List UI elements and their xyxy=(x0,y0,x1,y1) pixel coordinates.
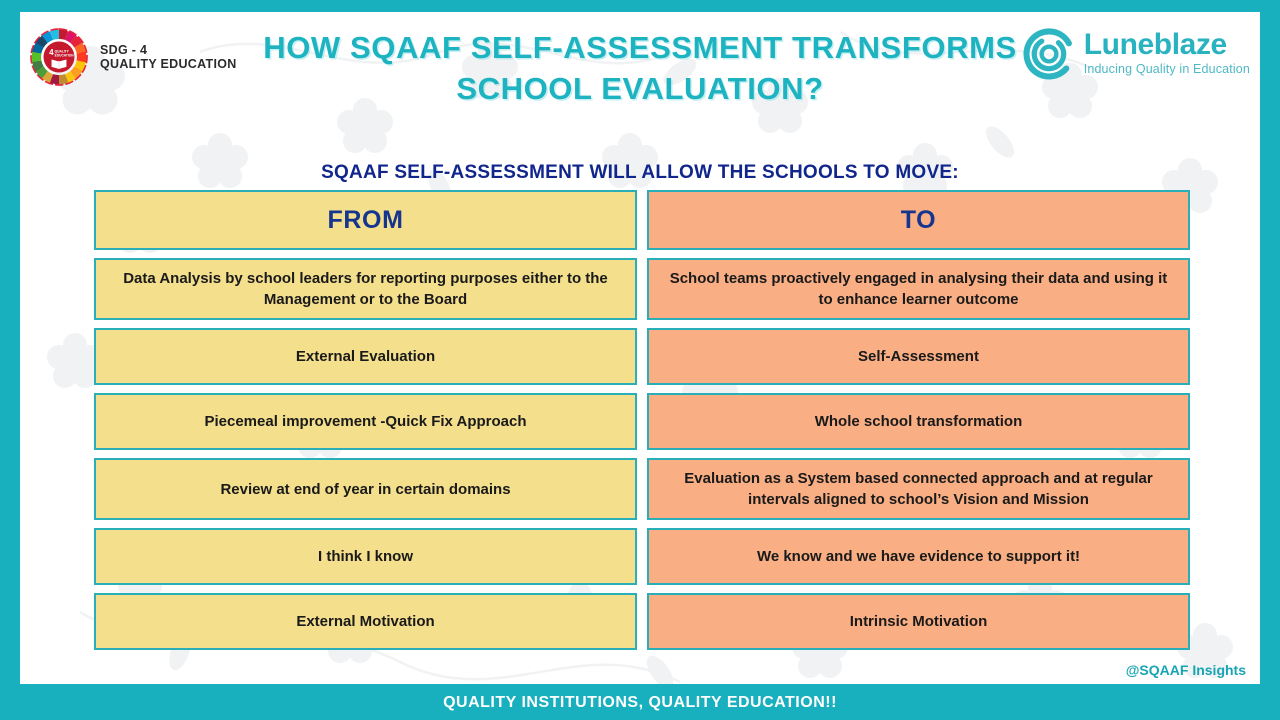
sdg-label: SDG - 4 QUALITY EDUCATION xyxy=(100,43,237,72)
cell-to: School teams proactively engaged in anal… xyxy=(647,258,1190,320)
table-row: Data Analysis by school leaders for repo… xyxy=(94,258,1190,320)
footer-banner: QUALITY INSTITUTIONS, QUALITY EDUCATION!… xyxy=(0,686,1280,720)
cell-from: Review at end of year in certain domains xyxy=(94,458,637,520)
table-row: Piecemeal improvement -Quick Fix Approac… xyxy=(94,393,1190,450)
cell-to: Intrinsic Motivation xyxy=(647,593,1190,650)
table-row: Review at end of year in certain domains… xyxy=(94,458,1190,520)
brand-text: Luneblaze Inducing Quality in Education xyxy=(1084,28,1250,76)
cell-from: Data Analysis by school leaders for repo… xyxy=(94,258,637,320)
cell-to: Evaluation as a System based connected a… xyxy=(647,458,1190,520)
sdg-wheel-icon: 4 QUALITY EDUCATION xyxy=(28,26,90,88)
cell-from: External Motivation xyxy=(94,593,637,650)
brand-name: Luneblaze xyxy=(1084,30,1250,60)
sdg-title: QUALITY EDUCATION xyxy=(100,57,237,72)
slide-header: 4 QUALITY EDUCATION SDG - 4 QUALITY EDUC… xyxy=(20,12,1260,108)
cell-from-text: External Evaluation xyxy=(296,346,435,367)
cell-to-text: Self-Assessment xyxy=(858,346,979,367)
footer-text: QUALITY INSTITUTIONS, QUALITY EDUCATION!… xyxy=(443,694,837,712)
brand-tagline: Inducing Quality in Education xyxy=(1084,63,1250,76)
column-header-to-label: TO xyxy=(901,206,936,235)
cell-to-text: Whole school transformation xyxy=(815,411,1023,432)
column-header-from-label: FROM xyxy=(328,206,404,235)
table-header-row: FROM TO xyxy=(94,190,1190,250)
content-canvas: 4 QUALITY EDUCATION SDG - 4 QUALITY EDUC… xyxy=(20,12,1260,684)
sdg-number: SDG - 4 xyxy=(100,43,237,58)
brand-logo: Luneblaze Inducing Quality in Education xyxy=(1023,28,1250,80)
column-header-to: TO xyxy=(647,190,1190,250)
cell-to-text: Evaluation as a System based connected a… xyxy=(663,468,1174,510)
cell-from-text: I think I know xyxy=(318,546,413,567)
table-row: I think I know We know and we have evide… xyxy=(94,528,1190,585)
luneblaze-spiral-icon xyxy=(1023,28,1075,80)
table-row: External Evaluation Self-Assessment xyxy=(94,328,1190,385)
page-title: HOW SQAAF SELF-ASSESSMENT TRANSFORMS SCH… xyxy=(260,28,1020,110)
cell-from: I think I know xyxy=(94,528,637,585)
social-handle: @SQAAF Insights xyxy=(1126,662,1246,678)
cell-to: Whole school transformation xyxy=(647,393,1190,450)
slide: 4 QUALITY EDUCATION SDG - 4 QUALITY EDUC… xyxy=(0,0,1280,720)
cell-from-text: External Motivation xyxy=(296,611,434,632)
cell-from-text: Data Analysis by school leaders for repo… xyxy=(110,268,621,310)
cell-to-text: School teams proactively engaged in anal… xyxy=(663,268,1174,310)
page-title-text: HOW SQAAF SELF-ASSESSMENT TRANSFORMS SCH… xyxy=(260,28,1020,110)
sdg-badge: 4 QUALITY EDUCATION SDG - 4 QUALITY EDUC… xyxy=(28,26,237,88)
cell-to: Self-Assessment xyxy=(647,328,1190,385)
cell-from-text: Review at end of year in certain domains xyxy=(220,479,510,500)
column-header-from: FROM xyxy=(94,190,637,250)
cell-to-text: Intrinsic Motivation xyxy=(850,611,988,632)
svg-text:EDUCATION: EDUCATION xyxy=(55,53,75,57)
table-row: External Motivation Intrinsic Motivation xyxy=(94,593,1190,650)
from-to-table: FROM TO Data Analysis by school leaders … xyxy=(94,190,1190,658)
cell-from-text: Piecemeal improvement -Quick Fix Approac… xyxy=(204,411,526,432)
svg-text:4: 4 xyxy=(49,48,54,57)
cell-from: External Evaluation xyxy=(94,328,637,385)
cell-to-text: We know and we have evidence to support … xyxy=(757,546,1080,567)
cell-from: Piecemeal improvement -Quick Fix Approac… xyxy=(94,393,637,450)
cell-to: We know and we have evidence to support … xyxy=(647,528,1190,585)
subtitle: SQAAF SELF-ASSESSMENT WILL ALLOW THE SCH… xyxy=(20,162,1260,184)
